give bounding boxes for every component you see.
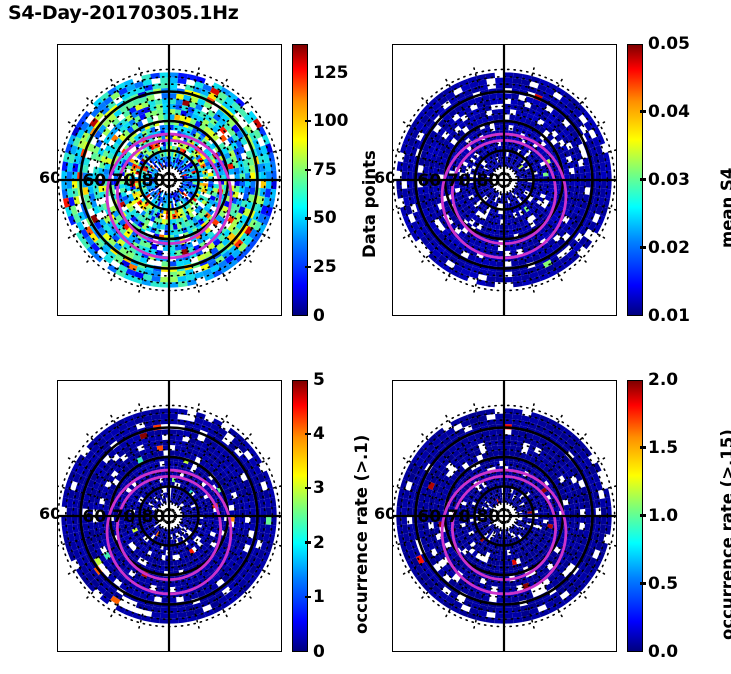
colorbar-tick: 0.01 bbox=[640, 308, 690, 325]
colorbar-tick: 50 bbox=[305, 210, 337, 227]
radial-tick-80: 80 bbox=[142, 171, 166, 191]
colorbar-tick: 1.5 bbox=[640, 440, 678, 457]
radial-tick-60-clip: 60 bbox=[11, 504, 57, 528]
radial-tick-80: 80 bbox=[477, 507, 501, 527]
colorbar-label-mean-s4: mean S4 bbox=[718, 168, 731, 248]
polar-plot-occurrence-gt-0_1: 607080 bbox=[57, 380, 282, 652]
radial-tick-60: 60 bbox=[418, 507, 442, 527]
colorbar-occurrence-gt-0_1 bbox=[292, 380, 308, 652]
radial-tick-70: 70 bbox=[112, 507, 136, 527]
panel-occurrence-rate-gt-0_15: 607080 60 bbox=[392, 380, 617, 652]
colorbar-tick: 25 bbox=[305, 259, 337, 276]
colorbar-tick: 0.02 bbox=[640, 240, 690, 257]
radial-tick-60: 60 bbox=[39, 168, 57, 187]
radial-tick-80: 80 bbox=[477, 171, 501, 191]
colorbar-tick: 0.5 bbox=[640, 576, 678, 593]
panel-occurrence-rate-gt-0_1: 607080 60 bbox=[57, 380, 282, 652]
colorbar-tick: 1 bbox=[305, 589, 325, 606]
radial-tick-70: 70 bbox=[447, 171, 471, 191]
colorbar-tick: 3 bbox=[305, 480, 325, 497]
radial-tick-80: 80 bbox=[142, 507, 166, 527]
figure-title: S4-Day-20170305.1Hz bbox=[8, 2, 239, 24]
radial-tick-60: 60 bbox=[39, 504, 57, 523]
panel-data-points: 607080 60 bbox=[57, 44, 282, 316]
colorbar-tick: 2 bbox=[305, 535, 325, 552]
radial-tick-60: 60 bbox=[83, 507, 107, 527]
colorbar-tick: 0 bbox=[305, 308, 325, 325]
radial-tick-60: 60 bbox=[374, 168, 392, 187]
colorbar-tick: 5 bbox=[305, 372, 325, 389]
radial-tick-60: 60 bbox=[418, 171, 442, 191]
polar-plot-occurrence-gt-0_15: 607080 bbox=[392, 380, 617, 652]
colorbar-tick: 0.04 bbox=[640, 104, 690, 121]
colorbar-tick: 125 bbox=[305, 65, 349, 82]
radial-tick-60-clip: 60 bbox=[11, 168, 57, 192]
colorbar-label-occurrence-gt-0_15: occurrence rate (>.15) bbox=[718, 429, 731, 640]
polar-plot-mean-s4: 607080 bbox=[392, 44, 617, 316]
radial-tick-60: 60 bbox=[83, 171, 107, 191]
radial-tick-70: 70 bbox=[447, 507, 471, 527]
colorbar-label-data-points: Data points bbox=[360, 150, 379, 258]
radial-tick-60-clip: 60 bbox=[346, 168, 392, 192]
panel-mean-s4: 607080 60 bbox=[392, 44, 617, 316]
radial-tick-70: 70 bbox=[112, 171, 136, 191]
polar-plot-data-points: 607080 bbox=[57, 44, 282, 316]
radial-tick-60: 60 bbox=[374, 504, 392, 523]
colorbar-tick: 1.0 bbox=[640, 508, 678, 525]
colorbar-tick: 75 bbox=[305, 162, 337, 179]
radial-tick-60-clip: 60 bbox=[346, 504, 392, 528]
colorbar-tick: 0.0 bbox=[640, 644, 678, 661]
colorbar-tick: 2.0 bbox=[640, 372, 678, 389]
colorbar-label-occurrence-gt-0_1: occurrence rate (>.1) bbox=[352, 435, 371, 634]
colorbar-tick: 100 bbox=[305, 113, 349, 130]
colorbar-tick: 0.03 bbox=[640, 172, 690, 189]
colorbar-tick: 4 bbox=[305, 426, 325, 443]
colorbar-tick: 0 bbox=[305, 644, 325, 661]
colorbar-tick: 0.05 bbox=[640, 36, 690, 53]
